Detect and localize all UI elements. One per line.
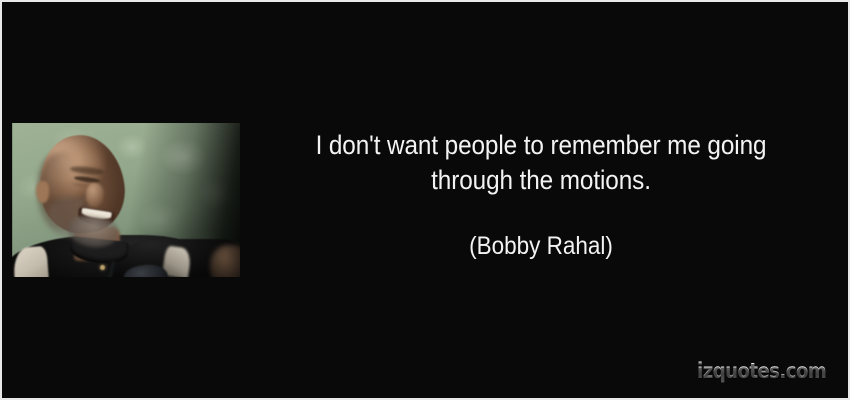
portrait-photo: [12, 123, 240, 277]
portrait-ear: [36, 181, 49, 203]
portrait-arm: [210, 245, 240, 277]
site-watermark: izquotes.com: [697, 359, 826, 383]
portrait-background: [12, 123, 240, 277]
quote-text: I don't want people to remember me going…: [288, 128, 794, 198]
portrait-shirt-button: [100, 265, 105, 270]
quote-image-canvas: I don't want people to remember me going…: [0, 0, 850, 400]
quote-block: I don't want people to remember me going…: [260, 128, 822, 262]
quote-author: (Bobby Rahal): [288, 230, 794, 262]
portrait-shoulder-panel-left: [13, 246, 50, 277]
